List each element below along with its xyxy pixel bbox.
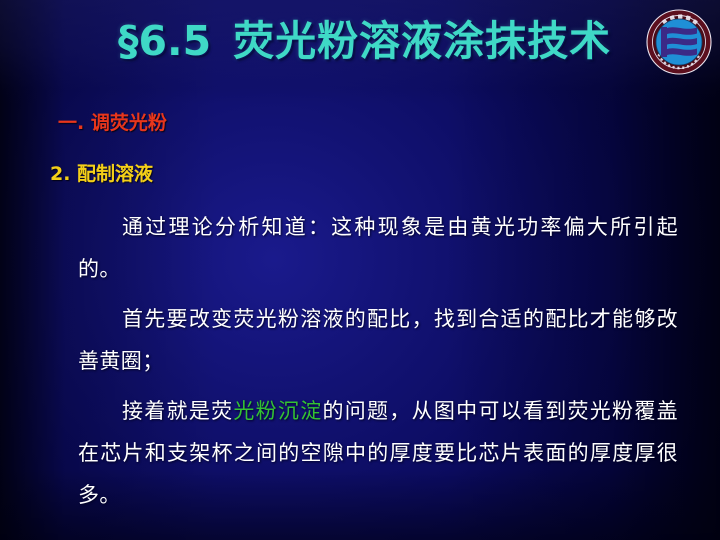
slide-title: §6.5荧光粉溶液涂抹技术 xyxy=(118,16,611,67)
paragraph-3-highlight: 光粉沉淀 xyxy=(233,399,322,423)
slide-body: 通过理论分析知道：这种现象是由黄光功率偏大所引起的。 首先要改变荧光粉溶液的配比… xyxy=(78,206,678,516)
body-paragraph-1: 通过理论分析知道：这种现象是由黄光功率偏大所引起的。 xyxy=(78,206,678,290)
body-paragraph-3: 接着就是荧光粉沉淀的问题，从图中可以看到荧光粉覆盖在芯片和支架杯之间的空隙中的厚… xyxy=(78,390,678,516)
university-emblem-icon xyxy=(645,8,713,76)
heading-level-1: 一. 调荧光粉 xyxy=(58,108,167,135)
university-logo xyxy=(645,8,713,76)
presentation-slide: §6.5荧光粉溶液涂抹技术 xyxy=(0,0,720,540)
heading-level-2: 2. 配制溶液 xyxy=(50,159,153,186)
paragraph-3-prefix: 接着就是荧 xyxy=(122,399,233,423)
body-paragraph-2: 首先要改变荧光粉溶液的配比，找到合适的配比才能够改善黄圈； xyxy=(78,298,678,382)
slide-title-section: §6.5 xyxy=(118,17,211,65)
title-row: §6.5荧光粉溶液涂抹技术 xyxy=(0,12,720,78)
slide-title-text: 荧光粉溶液涂抹技术 xyxy=(233,17,611,65)
